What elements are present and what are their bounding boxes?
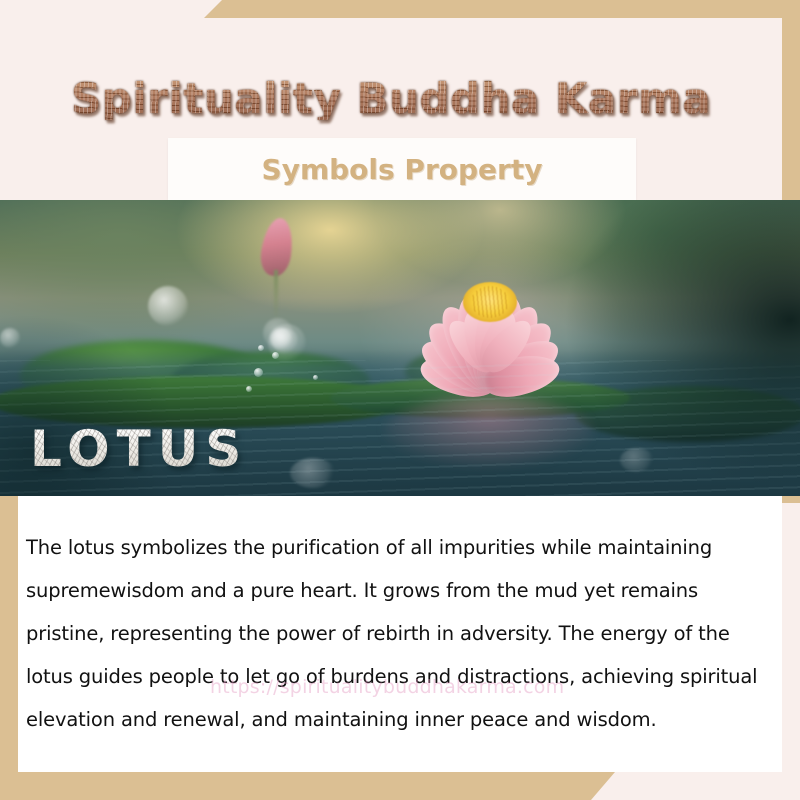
- subtitle-label: Symbols Property: [262, 153, 543, 186]
- page-title: Spirituality Buddha Karma: [0, 78, 782, 120]
- water-droplet: [246, 386, 252, 392]
- bokeh-light: [620, 448, 654, 472]
- bokeh-light: [290, 458, 336, 488]
- body-panel: The lotus symbolizes the purification of…: [18, 496, 782, 772]
- decorative-tan-bottom-band: [0, 772, 615, 800]
- image-caption-lotus: LOTUS: [30, 424, 248, 474]
- subtitle-panel: Symbols Property: [168, 138, 636, 200]
- bokeh-light: [270, 328, 292, 350]
- decorative-tan-left-band: [0, 496, 18, 800]
- body-paragraph: The lotus symbolizes the purification of…: [26, 526, 778, 741]
- poster-canvas: Spirituality Buddha Karma Symbols Proper…: [0, 0, 800, 800]
- bokeh-light: [148, 286, 188, 326]
- water-droplet: [254, 368, 263, 377]
- bokeh-light: [0, 328, 20, 348]
- water-droplet: [258, 345, 264, 351]
- water-droplet: [272, 352, 279, 359]
- water-droplet: [313, 375, 318, 380]
